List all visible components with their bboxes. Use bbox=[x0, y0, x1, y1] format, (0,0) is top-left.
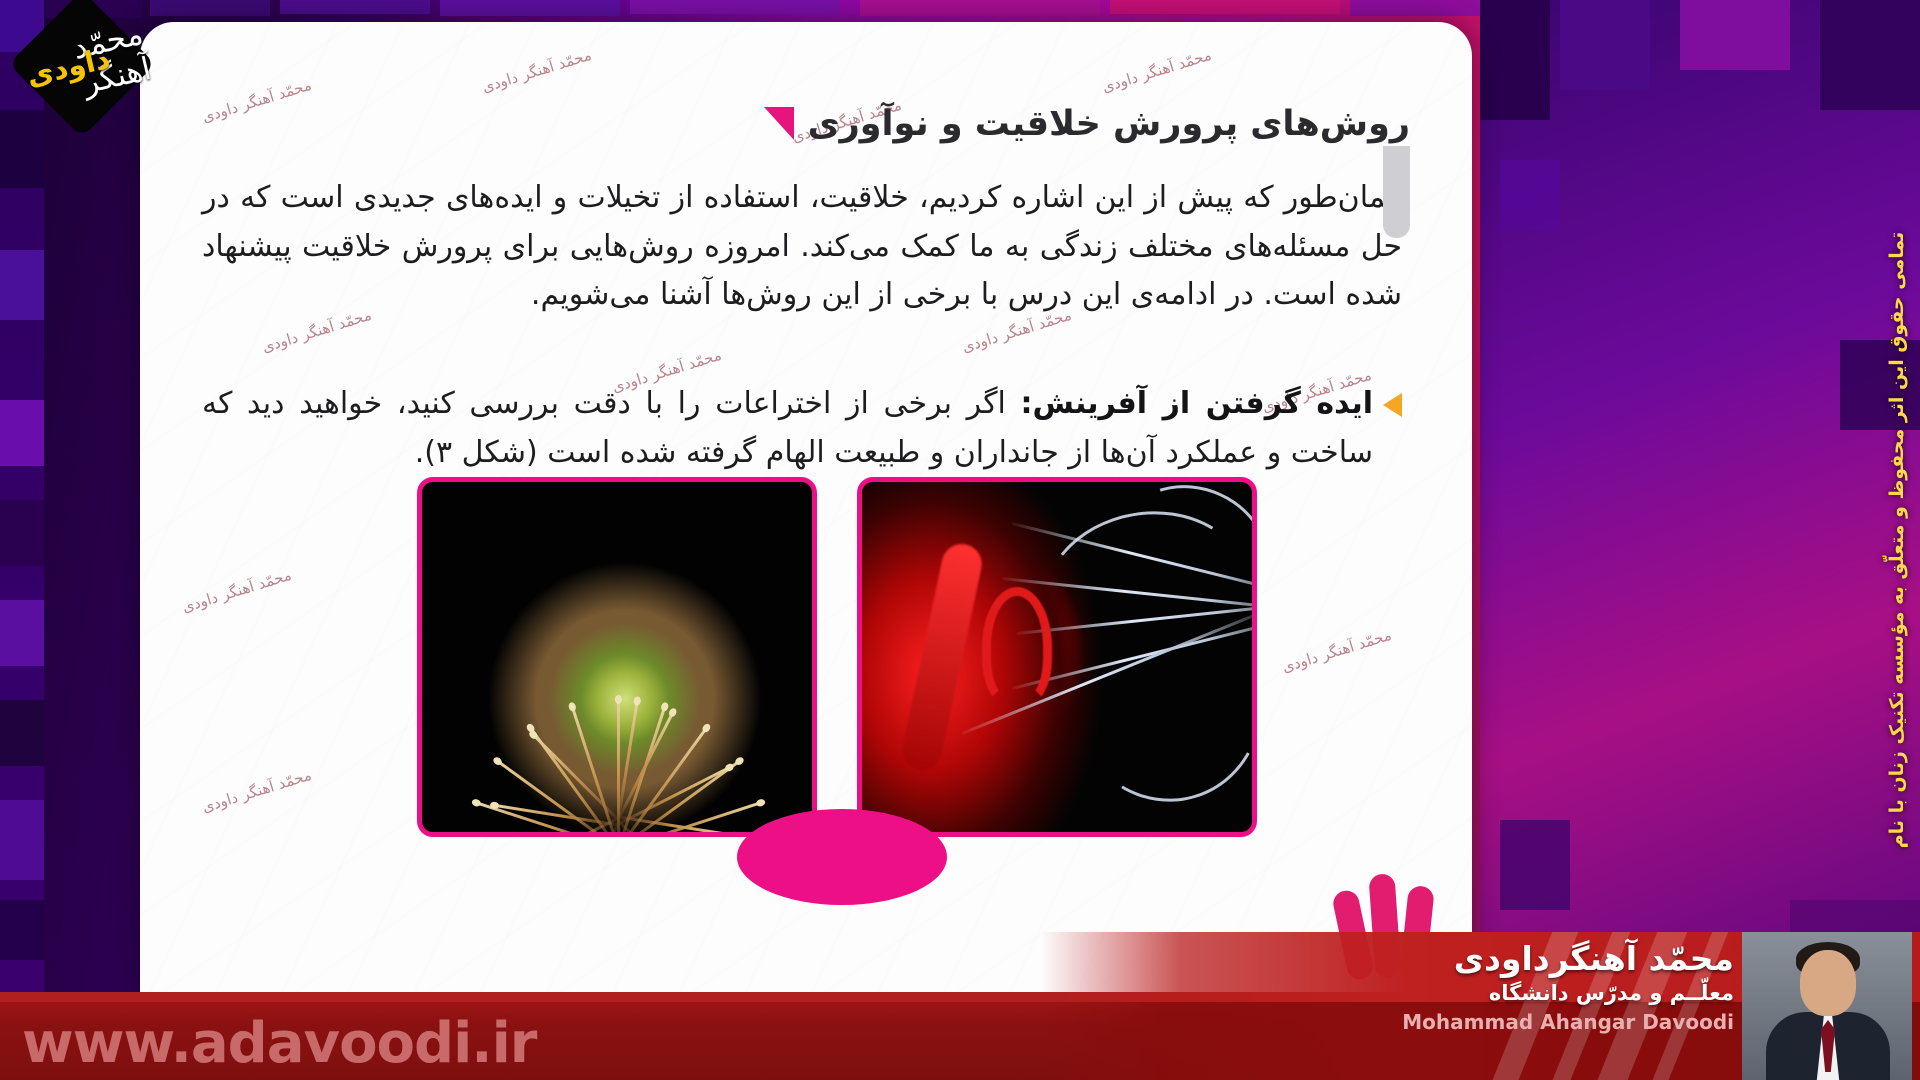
bg-block bbox=[1500, 820, 1570, 910]
watermark-text: محمّد آهنگر داودی bbox=[1100, 46, 1214, 96]
slide-title-row: روش‌های پرورش خلاقیت و نوآوری bbox=[764, 104, 1410, 144]
slide-stage: تمامی حقوق این اثر محفوظ و متعلّق به مؤس… bbox=[0, 0, 1920, 1080]
bg-block bbox=[0, 500, 44, 566]
title-marker-icon bbox=[764, 107, 794, 140]
bg-block bbox=[0, 400, 44, 466]
bg-block bbox=[0, 600, 44, 666]
watermark-text: محمّد آهنگر داودی bbox=[200, 766, 314, 816]
slide-card: محمّد آهنگر داودی محمّد آهنگر داودی محمّ… bbox=[140, 22, 1472, 1002]
bg-block bbox=[1110, 0, 1340, 14]
bg-block bbox=[280, 0, 430, 14]
bg-block bbox=[860, 0, 1100, 16]
website-url[interactable]: www.adavoodi.ir bbox=[22, 1011, 536, 1076]
presenter-name: محمّد آهنگرداودی bbox=[1402, 938, 1734, 979]
presenter-info: محمّد آهنگرداودی معلّــم و مدرّس دانشگاه… bbox=[1402, 938, 1734, 1034]
bg-block bbox=[1500, 160, 1560, 230]
burdock-seed-illustration bbox=[422, 482, 812, 832]
watermark-text: محمّد آهنگر داودی bbox=[180, 566, 294, 616]
presenter-panel: محمّد آهنگرداودی معلّــم و مدرّس دانشگاه… bbox=[1040, 932, 1920, 1080]
fiber-optic-illustration bbox=[862, 482, 1252, 832]
page-title: روش‌های پرورش خلاقیت و نوآوری bbox=[808, 104, 1410, 144]
idea-section: ایده گرفتن از آفرینش: اگر برخی از اختراع… bbox=[202, 380, 1402, 477]
presenter-role: معلّــم و مدرّس دانشگاه bbox=[1402, 979, 1734, 1008]
bg-block bbox=[1820, 0, 1920, 110]
bg-block bbox=[0, 250, 44, 320]
bg-block bbox=[630, 0, 840, 14]
bg-block bbox=[1560, 0, 1650, 90]
bg-block bbox=[0, 700, 44, 766]
pink-accent-shape bbox=[737, 809, 947, 905]
watermark-text: محمّد آهنگر داودی bbox=[480, 46, 594, 96]
watermark-text: محمّد آهنگر داودی bbox=[200, 76, 314, 126]
bg-block bbox=[1480, 0, 1550, 120]
bg-block bbox=[0, 800, 44, 880]
bg-block bbox=[440, 0, 620, 16]
watermark-text: محمّد آهنگر داودی bbox=[1280, 626, 1394, 676]
brand-logo[interactable]: محمّد آهنگر داودی bbox=[22, 2, 148, 128]
title-side-bar bbox=[1383, 146, 1410, 238]
side-copyright-text: تمامی حقوق این اثر محفوظ و متعلّق به مؤس… bbox=[1886, 232, 1908, 848]
bg-block bbox=[0, 900, 44, 960]
bg-block bbox=[1840, 340, 1920, 430]
presenter-name-latin: Mohammad Ahangar Davoodi bbox=[1402, 1010, 1734, 1034]
bullet-lead-label: ایده گرفتن از آفرینش: bbox=[1021, 386, 1373, 421]
bullet-arrow-icon bbox=[1383, 393, 1402, 417]
presenter-avatar bbox=[1742, 932, 1912, 1080]
bg-block bbox=[150, 0, 270, 16]
bullet-row: ایده گرفتن از آفرینش: اگر برخی از اختراع… bbox=[202, 380, 1402, 477]
intro-paragraph: همان‌طور که پیش از این اشاره کردیم، خلاق… bbox=[202, 174, 1402, 320]
figure-image-fiber bbox=[857, 477, 1257, 837]
bg-block bbox=[1680, 0, 1790, 70]
bullet-content: ایده گرفتن از آفرینش: اگر برخی از اختراع… bbox=[202, 380, 1373, 477]
figure-image-burdock bbox=[417, 477, 817, 837]
